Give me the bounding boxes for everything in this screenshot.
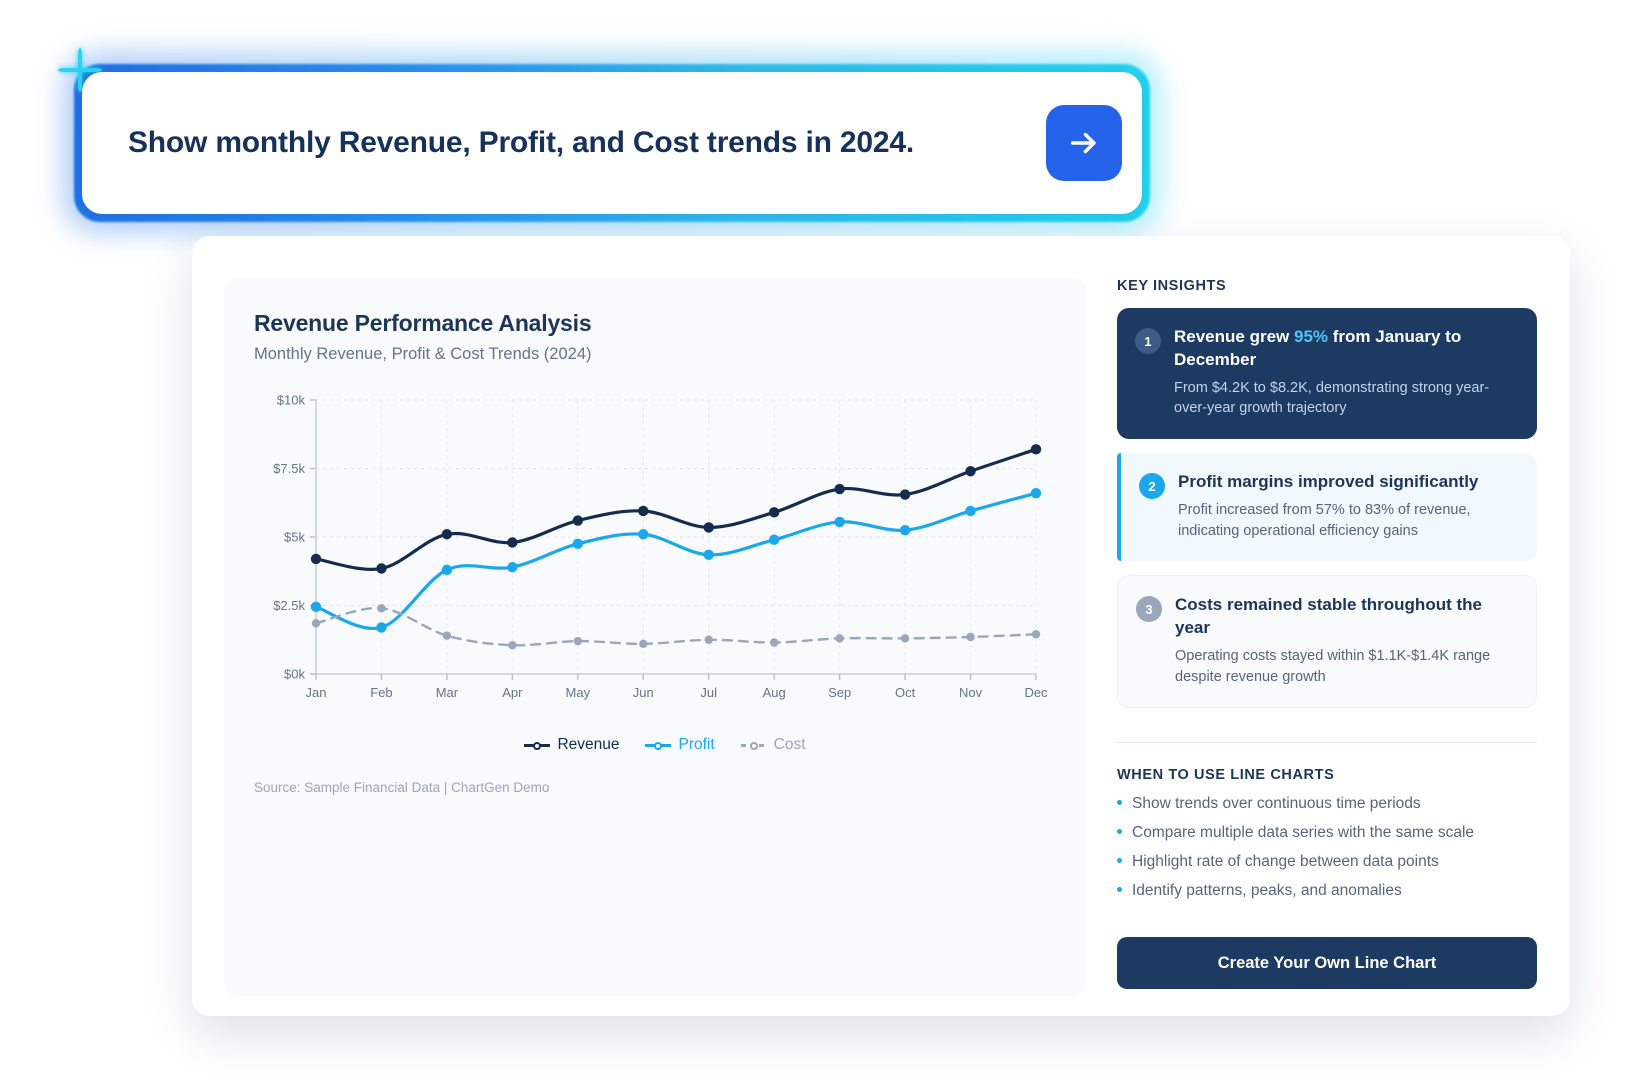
x-axis-tick-label: Feb bbox=[370, 685, 392, 700]
bullet-icon bbox=[1117, 800, 1122, 805]
data-point-cost-dec[interactable] bbox=[1032, 630, 1040, 638]
data-point-cost-apr[interactable] bbox=[508, 641, 516, 649]
prompt-input-box[interactable]: Show monthly Revenue, Profit, and Cost t… bbox=[82, 72, 1142, 214]
insight-title-highlight: 95% bbox=[1294, 327, 1328, 346]
bullet-icon bbox=[1117, 829, 1122, 834]
data-point-cost-feb[interactable] bbox=[377, 604, 385, 612]
create-line-chart-button[interactable]: Create Your Own Line Chart bbox=[1117, 937, 1537, 989]
y-axis-tick-label: $0k bbox=[284, 667, 305, 682]
chart-title: Revenue Performance Analysis bbox=[254, 310, 1056, 337]
data-point-profit-jun[interactable] bbox=[638, 529, 648, 539]
y-axis-tick-label: $7.5k bbox=[273, 461, 305, 476]
data-point-revenue-aug[interactable] bbox=[769, 507, 779, 517]
data-point-cost-aug[interactable] bbox=[770, 638, 778, 646]
data-point-cost-sep[interactable] bbox=[835, 634, 843, 642]
data-point-cost-jun[interactable] bbox=[639, 640, 647, 648]
insight-title: Profit margins improved significantly bbox=[1178, 471, 1515, 494]
key-insights-heading: Key Insights bbox=[1117, 278, 1537, 294]
usage-list-item: Highlight rate of change between data po… bbox=[1117, 853, 1537, 871]
insight-description: Operating costs stayed within $1.1K-$1.4… bbox=[1175, 646, 1514, 687]
y-axis-tick-label: $5k bbox=[284, 530, 305, 545]
legend-marker-icon bbox=[645, 739, 671, 751]
data-point-revenue-nov[interactable] bbox=[965, 466, 975, 476]
data-point-cost-jan[interactable] bbox=[312, 619, 320, 627]
data-point-revenue-jul[interactable] bbox=[704, 522, 714, 532]
legend-marker-icon bbox=[741, 739, 767, 751]
data-point-cost-may[interactable] bbox=[574, 637, 582, 645]
x-axis-tick-label: Nov bbox=[959, 685, 983, 700]
x-axis-tick-label: Oct bbox=[895, 685, 916, 700]
data-point-profit-nov[interactable] bbox=[965, 506, 975, 516]
x-axis-tick-label: Aug bbox=[763, 685, 786, 700]
chart-legend: RevenueProfitCost bbox=[254, 736, 1056, 754]
x-axis-tick-label: Dec bbox=[1024, 685, 1048, 700]
arrow-right-icon bbox=[1067, 126, 1101, 160]
insight-badge: 3 bbox=[1136, 596, 1162, 622]
data-point-profit-feb[interactable] bbox=[376, 622, 386, 632]
usage-list-item-label: Identify patterns, peaks, and anomalies bbox=[1132, 882, 1402, 900]
data-point-profit-may[interactable] bbox=[573, 539, 583, 549]
prompt-submit-button[interactable] bbox=[1046, 105, 1122, 181]
screen: Show monthly Revenue, Profit, and Cost t… bbox=[0, 0, 1625, 1082]
prompt-text[interactable]: Show monthly Revenue, Profit, and Cost t… bbox=[128, 126, 1046, 160]
data-point-revenue-mar[interactable] bbox=[442, 529, 452, 539]
y-axis-tick-label: $10k bbox=[277, 393, 306, 408]
data-point-profit-jul[interactable] bbox=[704, 550, 714, 560]
legend-marker-icon bbox=[524, 739, 550, 751]
data-point-profit-aug[interactable] bbox=[769, 535, 779, 545]
y-axis-tick-label: $2.5k bbox=[273, 598, 305, 613]
insight-card-1: 1 Revenue grew 95% from January to Decem… bbox=[1117, 308, 1537, 439]
bullet-icon bbox=[1117, 858, 1122, 863]
prompt-bar: Show monthly Revenue, Profit, and Cost t… bbox=[82, 72, 1142, 214]
insight-description: From $4.2K to $8.2K, demonstrating stron… bbox=[1174, 378, 1515, 419]
data-point-profit-dec[interactable] bbox=[1031, 488, 1041, 498]
insight-title: Costs remained stable throughout the yea… bbox=[1175, 594, 1514, 640]
section-divider bbox=[1117, 742, 1537, 743]
legend-item-revenue[interactable]: Revenue bbox=[524, 736, 619, 754]
data-point-profit-oct[interactable] bbox=[900, 525, 910, 535]
legend-label: Cost bbox=[774, 736, 806, 754]
data-point-profit-mar[interactable] bbox=[442, 565, 452, 575]
usage-list-item: Show trends over continuous time periods bbox=[1117, 795, 1537, 813]
x-axis-tick-label: Apr bbox=[502, 685, 523, 700]
plot-area: $0k$2.5k$5k$7.5k$10kJanFebMarAprMayJunJu… bbox=[254, 388, 1054, 718]
legend-label: Revenue bbox=[557, 736, 619, 754]
x-axis-tick-label: Jan bbox=[306, 685, 327, 700]
result-card: Revenue Performance Analysis Monthly Rev… bbox=[192, 236, 1570, 1016]
data-point-revenue-apr[interactable] bbox=[507, 537, 517, 547]
data-point-profit-sep[interactable] bbox=[834, 517, 844, 527]
insights-panel: Key Insights 1 Revenue grew 95% from Jan… bbox=[1117, 278, 1537, 996]
insight-card-2: 2 Profit margins improved significantly … bbox=[1117, 453, 1537, 561]
usage-list-item-label: Show trends over continuous time periods bbox=[1132, 795, 1421, 813]
x-axis-tick-label: Mar bbox=[436, 685, 459, 700]
x-axis-tick-label: Jul bbox=[700, 685, 717, 700]
data-point-revenue-jan[interactable] bbox=[311, 554, 321, 564]
data-point-profit-jan[interactable] bbox=[311, 602, 321, 612]
usage-list-item-label: Highlight rate of change between data po… bbox=[1132, 853, 1439, 871]
insight-description: Profit increased from 57% to 83% of reve… bbox=[1178, 500, 1515, 541]
usage-heading: When to use line charts bbox=[1117, 767, 1537, 783]
usage-list-item-label: Compare multiple data series with the sa… bbox=[1132, 824, 1474, 842]
chart-source-note: Source: Sample Financial Data | ChartGen… bbox=[254, 780, 1056, 795]
data-point-cost-mar[interactable] bbox=[443, 631, 451, 639]
insight-card-3: 3 Costs remained stable throughout the y… bbox=[1117, 575, 1537, 708]
chart-panel: Revenue Performance Analysis Monthly Rev… bbox=[224, 278, 1086, 996]
series-line-cost bbox=[316, 608, 1036, 645]
x-axis-tick-label: May bbox=[566, 685, 591, 700]
legend-item-profit[interactable]: Profit bbox=[645, 736, 714, 754]
data-point-profit-apr[interactable] bbox=[507, 562, 517, 572]
insight-title: Revenue grew 95% from January to Decembe… bbox=[1174, 326, 1515, 372]
insight-badge: 1 bbox=[1135, 328, 1161, 354]
legend-item-cost[interactable]: Cost bbox=[741, 736, 806, 754]
chart-subtitle: Monthly Revenue, Profit & Cost Trends (2… bbox=[254, 345, 1056, 364]
data-point-revenue-feb[interactable] bbox=[376, 563, 386, 573]
data-point-revenue-oct[interactable] bbox=[900, 489, 910, 499]
bullet-icon bbox=[1117, 887, 1122, 892]
data-point-revenue-jun[interactable] bbox=[638, 506, 648, 516]
usage-list-item: Compare multiple data series with the sa… bbox=[1117, 824, 1537, 842]
x-axis-tick-label: Jun bbox=[633, 685, 654, 700]
legend-label: Profit bbox=[678, 736, 714, 754]
data-point-cost-jul[interactable] bbox=[705, 636, 713, 644]
data-point-cost-oct[interactable] bbox=[901, 634, 909, 642]
usage-list: Show trends over continuous time periods… bbox=[1117, 795, 1537, 900]
data-point-revenue-may[interactable] bbox=[573, 515, 583, 525]
line-chart-svg: $0k$2.5k$5k$7.5k$10kJanFebMarAprMayJunJu… bbox=[254, 388, 1054, 718]
series-line-profit bbox=[316, 493, 1036, 628]
x-axis-tick-label: Sep bbox=[828, 685, 851, 700]
data-point-cost-nov[interactable] bbox=[966, 633, 974, 641]
data-point-revenue-sep[interactable] bbox=[834, 484, 844, 494]
data-point-revenue-dec[interactable] bbox=[1031, 444, 1041, 454]
insight-badge: 2 bbox=[1139, 473, 1165, 499]
series-line-revenue bbox=[316, 449, 1036, 569]
insight-title-pre: Revenue grew bbox=[1174, 327, 1294, 346]
usage-list-item: Identify patterns, peaks, and anomalies bbox=[1117, 882, 1537, 900]
